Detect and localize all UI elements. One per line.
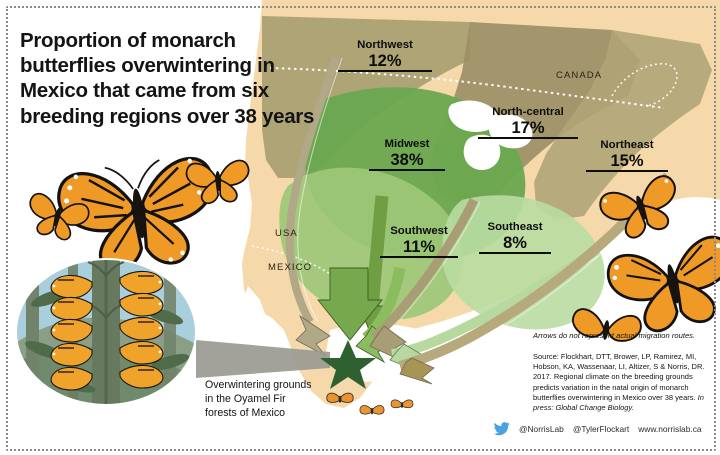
region-rule-north-central [478, 137, 578, 139]
region-label-southwest: Southwest 11% [380, 226, 458, 258]
region-percent-southwest: 11% [380, 238, 458, 256]
region-rule-southwest [380, 256, 458, 258]
region-percent-southeast: 8% [479, 234, 551, 252]
region-percent-northwest: 12% [338, 52, 432, 70]
region-label-midwest: Midwest 38% [369, 139, 445, 171]
monarch-cluster-photo [14, 258, 199, 406]
region-name-midwest: Midwest [369, 139, 445, 151]
country-label-usa: USA [275, 228, 298, 239]
social-website[interactable]: www.norrislab.ca [638, 424, 701, 434]
social-handle-lab[interactable]: @NorrisLab [519, 424, 564, 434]
region-label-north-central: North-central 17% [478, 107, 578, 139]
infographic-root: Proportion of monarch butterflies overwi… [0, 0, 720, 455]
region-percent-north-central: 17% [478, 119, 578, 137]
social-bar: @NorrisLab @TylerFlockart www.norrislab.… [493, 422, 702, 436]
country-label-canada: CANADA [556, 70, 602, 81]
source-citation: Source: Flockhart, DTT, Brower, LP, Rami… [533, 352, 715, 413]
region-rule-midwest [369, 169, 445, 171]
region-rule-northwest [338, 70, 432, 72]
region-name-southeast: Southeast [479, 222, 551, 234]
region-label-northeast: Northeast 15% [586, 140, 668, 172]
country-label-mexico: MEXICO [268, 262, 312, 273]
page-title: Proportion of monarch butterflies overwi… [20, 28, 320, 129]
twitter-bird-icon[interactable] [493, 422, 510, 436]
region-rule-southeast [479, 252, 551, 254]
source-citation-lead: Source: Flockhart, DTT, Brower, LP, Rami… [533, 352, 704, 402]
region-name-northwest: Northwest [338, 40, 432, 52]
region-rule-northeast [586, 170, 668, 172]
social-handle-person[interactable]: @TylerFlockart [573, 424, 629, 434]
region-label-southeast: Southeast 8% [479, 222, 551, 254]
region-label-northwest: Northwest 12% [338, 40, 432, 72]
region-name-north-central: North-central [478, 107, 578, 119]
region-percent-northeast: 15% [586, 152, 668, 170]
region-name-southwest: Southwest [380, 226, 458, 238]
overwintering-caption: Overwintering grounds in the Oyamel Fir … [205, 379, 312, 421]
region-name-northeast: Northeast [586, 140, 668, 152]
arrow-disclaimer-note: Arrows do not represent actual migration… [533, 331, 713, 341]
region-percent-midwest: 38% [369, 151, 445, 169]
